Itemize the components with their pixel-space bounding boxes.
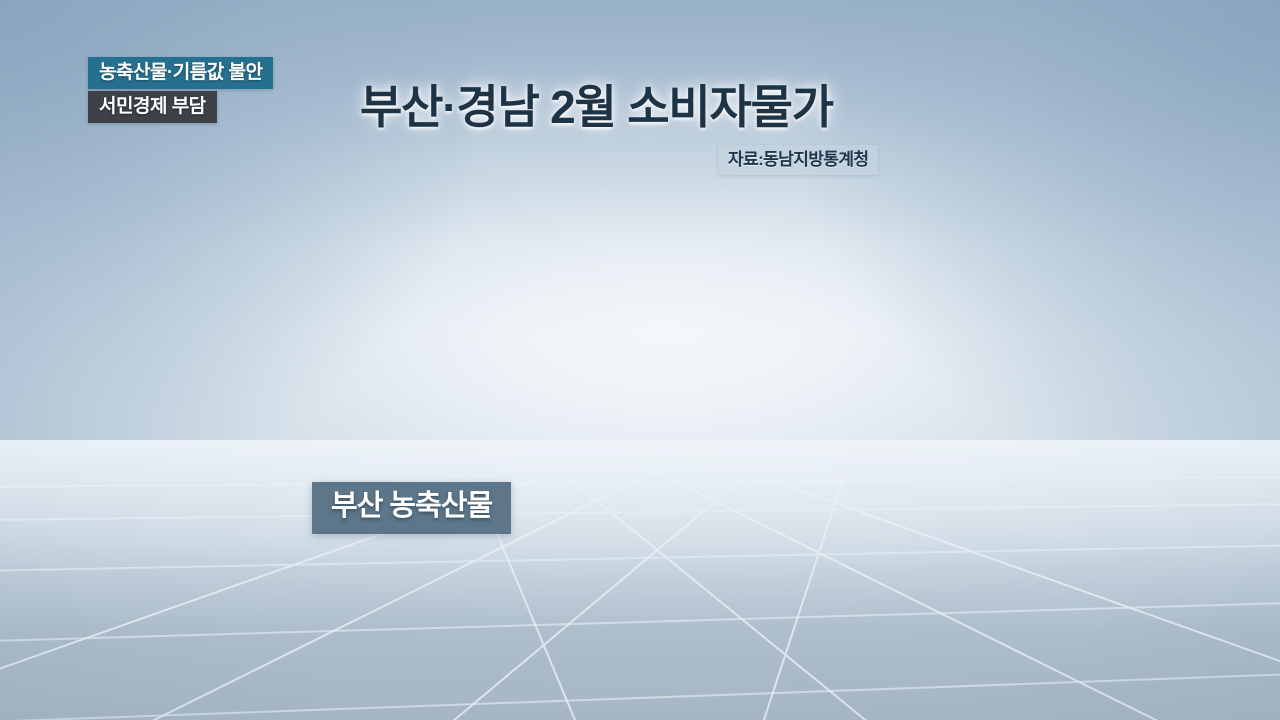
broadcast-graphic-screen: 농축산물·기름값 불안 서민경제 부담 부산·경남 2월 소비자물가 자료:동남… (0, 0, 1280, 720)
category-banner: 부산 농축산물 (312, 482, 511, 534)
kicker-badge-group: 농축산물·기름값 불안 서민경제 부담 (88, 57, 273, 123)
source-credit-badge: 자료:동남지방통계청 (718, 145, 878, 175)
kicker-badge-primary: 농축산물·기름값 불안 (88, 57, 273, 89)
kicker-badge-secondary: 서민경제 부담 (88, 91, 217, 123)
kicker-row-2: 서민경제 부담 (88, 91, 273, 123)
floor-horizon-haze (0, 440, 1280, 630)
background-corner-shade-right (810, 0, 1280, 470)
headline-title: 부산·경남 2월 소비자물가 (360, 80, 833, 134)
kicker-row-1: 농축산물·기름값 불안 (88, 57, 273, 89)
